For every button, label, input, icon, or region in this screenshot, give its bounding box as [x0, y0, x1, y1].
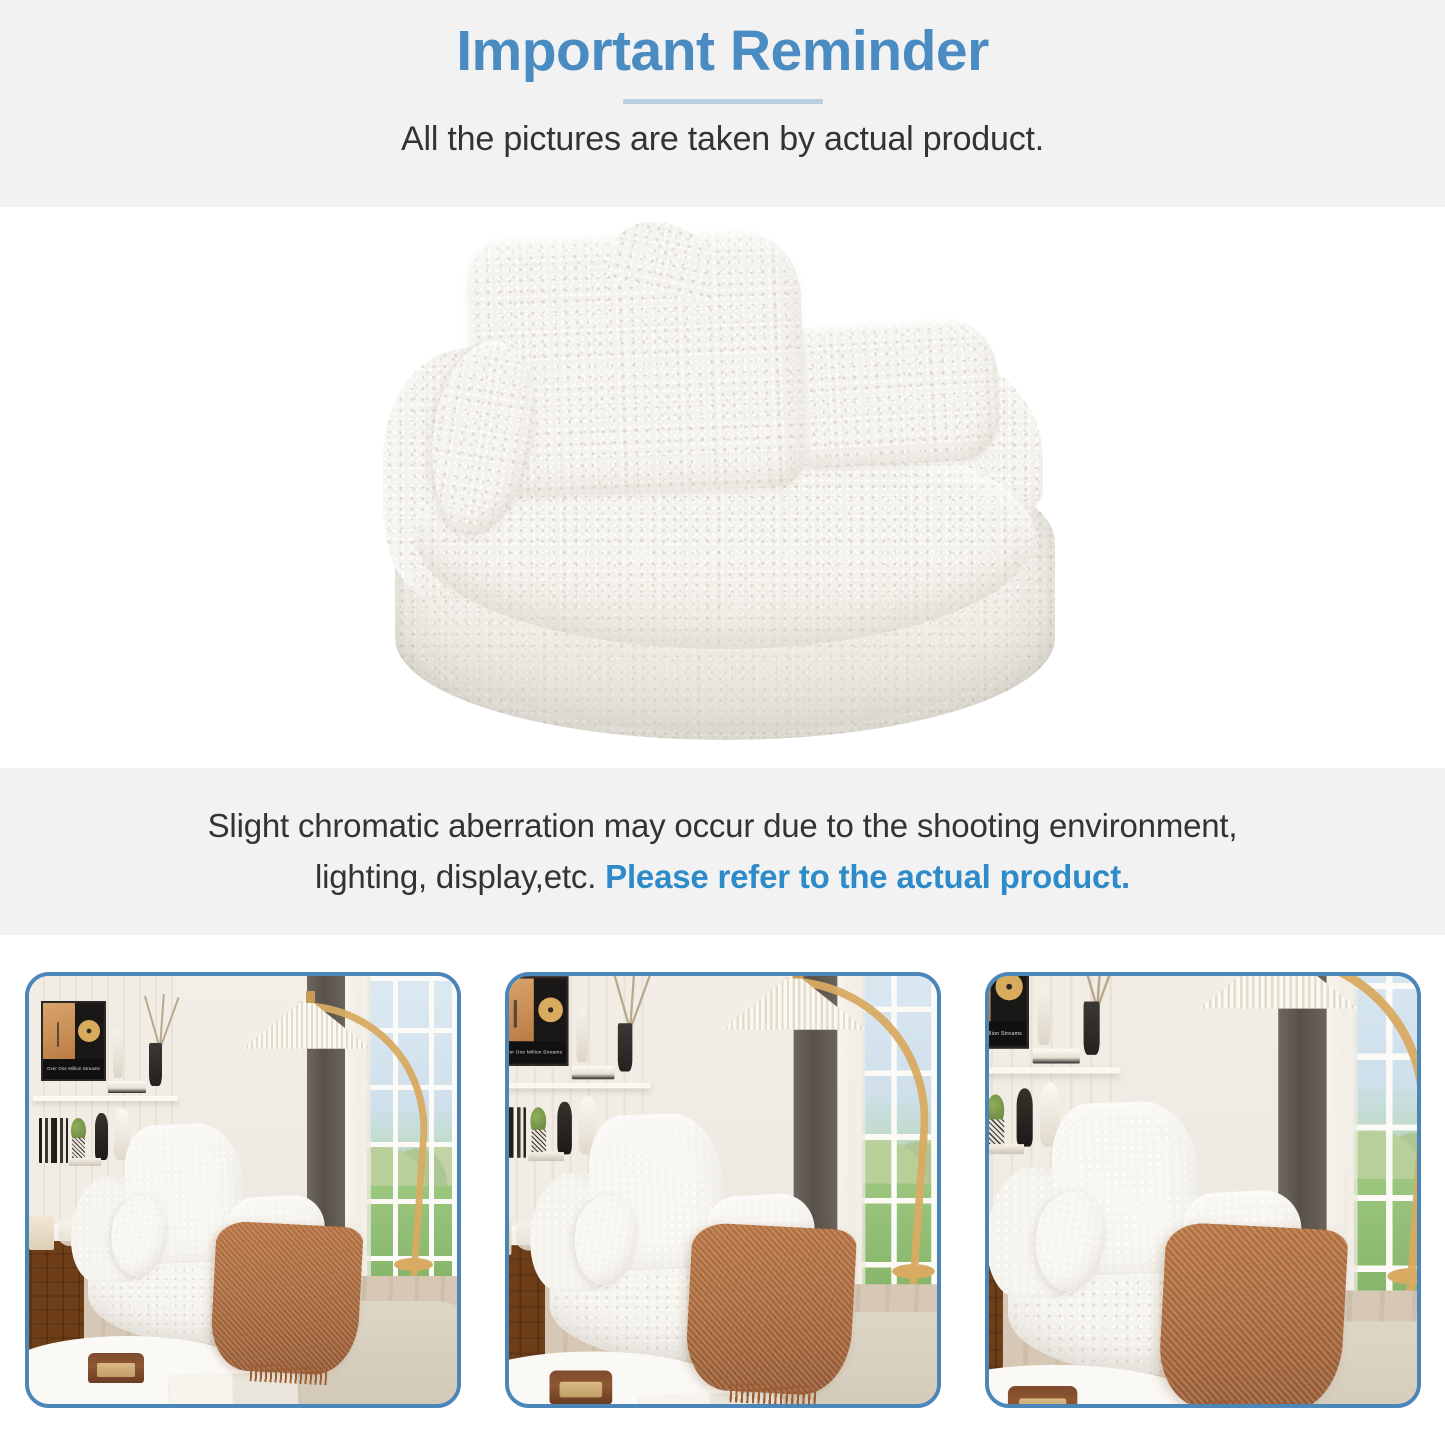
- disclaimer-band: Slight chromatic aberration may occur du…: [0, 768, 1445, 935]
- dried-branches: [610, 972, 646, 1029]
- lifestyle-thumbnail-3[interactable]: Over One Million Streams: [985, 972, 1421, 1408]
- poster-artwork: [43, 1003, 103, 1059]
- pillar-candle: [29, 1216, 55, 1250]
- disclaimer-line-1: Slight chromatic aberration may occur du…: [208, 807, 1238, 844]
- poster-disc-area: [990, 972, 1026, 1021]
- poster-caption: Over One Million Streams: [43, 1059, 103, 1079]
- stacked-books: [108, 1081, 146, 1093]
- shelf-board: [505, 1082, 650, 1088]
- title-divider: [623, 99, 823, 104]
- shelf-board: [985, 1067, 1119, 1073]
- vintage-wooden-radio: [88, 1353, 144, 1383]
- framed-gold-record-poster: Over One Million Streams: [41, 1001, 105, 1080]
- poster-artwork: [985, 972, 1027, 1021]
- poster-photo: [985, 972, 991, 1021]
- page-subtitle: All the pictures are taken by actual pro…: [401, 120, 1044, 159]
- branch-stem: [144, 996, 160, 1049]
- gold-record-icon: [995, 973, 1022, 1000]
- stacked-books: [571, 1065, 613, 1079]
- disclaimer-line-2-plain: lighting, display,etc.: [315, 858, 605, 895]
- gold-record-icon: [78, 1020, 100, 1042]
- white-figurine: [1038, 984, 1051, 1046]
- caramel-waffle-knit-throw: [684, 1222, 857, 1397]
- gold-record-icon: [537, 998, 562, 1023]
- poster-disc-area: [534, 979, 566, 1042]
- room-scene: Over One Million Streams: [505, 972, 941, 1408]
- boucle-swivel-chair: [986, 1078, 1336, 1375]
- framed-gold-record-poster: Over One Million Streams: [985, 972, 1029, 1048]
- room-scene: Over One Million Streams: [29, 976, 457, 1404]
- black-branch-vase: [617, 1024, 632, 1071]
- disclaimer-text: Slight chromatic aberration may occur du…: [73, 801, 1373, 901]
- white-figurine: [113, 1029, 123, 1079]
- upright-books: [39, 1118, 68, 1163]
- framed-gold-record-poster: Over One Million Streams: [505, 977, 569, 1066]
- lifestyle-thumbnail-1[interactable]: Over One Million Streams: [25, 972, 461, 1408]
- poster-artwork: [505, 979, 566, 1042]
- branch-stem: [612, 972, 630, 1030]
- right-bolster-pillow: [779, 318, 1001, 469]
- lamp-finial: [792, 972, 803, 978]
- black-branch-vase: [1083, 1002, 1099, 1054]
- boucle-swivel-chair: [530, 1092, 846, 1360]
- lifestyle-thumbnail-row: Over One Million Streams: [0, 935, 1445, 1445]
- caramel-waffle-knit-throw: [209, 1221, 363, 1377]
- header-band: Important Reminder All the pictures are …: [0, 0, 1445, 207]
- caramel-waffle-knit-throw: [1157, 1222, 1349, 1408]
- disclaimer-line-2-accent: Please refer to the actual product.: [605, 858, 1130, 895]
- upright-books: [505, 1107, 526, 1157]
- lamp-finial: [306, 991, 315, 1003]
- product-image-swivel-chair: [363, 228, 1083, 748]
- pillar-candle: [505, 1217, 511, 1255]
- shelf-board: [33, 1096, 179, 1101]
- poster-photo: [505, 979, 534, 1042]
- room-scene: Over One Million Streams: [985, 972, 1421, 1408]
- vintage-wooden-radio: [549, 1370, 611, 1404]
- lifestyle-thumbnail-2[interactable]: Over One Million Streams: [505, 972, 941, 1408]
- boucle-swivel-chair: [71, 1104, 353, 1344]
- vintage-wooden-radio: [1007, 1386, 1076, 1408]
- black-branch-vase: [149, 1043, 162, 1085]
- poster-caption: Over One Million Streams: [985, 1021, 1027, 1045]
- poster-caption: Over One Million Streams: [505, 1041, 566, 1063]
- hero-product-section: [0, 207, 1445, 768]
- poster-disc-area: [75, 1003, 104, 1059]
- poster-photo: [43, 1003, 74, 1059]
- dried-branches: [143, 994, 175, 1049]
- stacked-books: [1032, 1048, 1079, 1063]
- page-title: Important Reminder: [456, 16, 989, 87]
- white-figurine: [576, 1007, 587, 1063]
